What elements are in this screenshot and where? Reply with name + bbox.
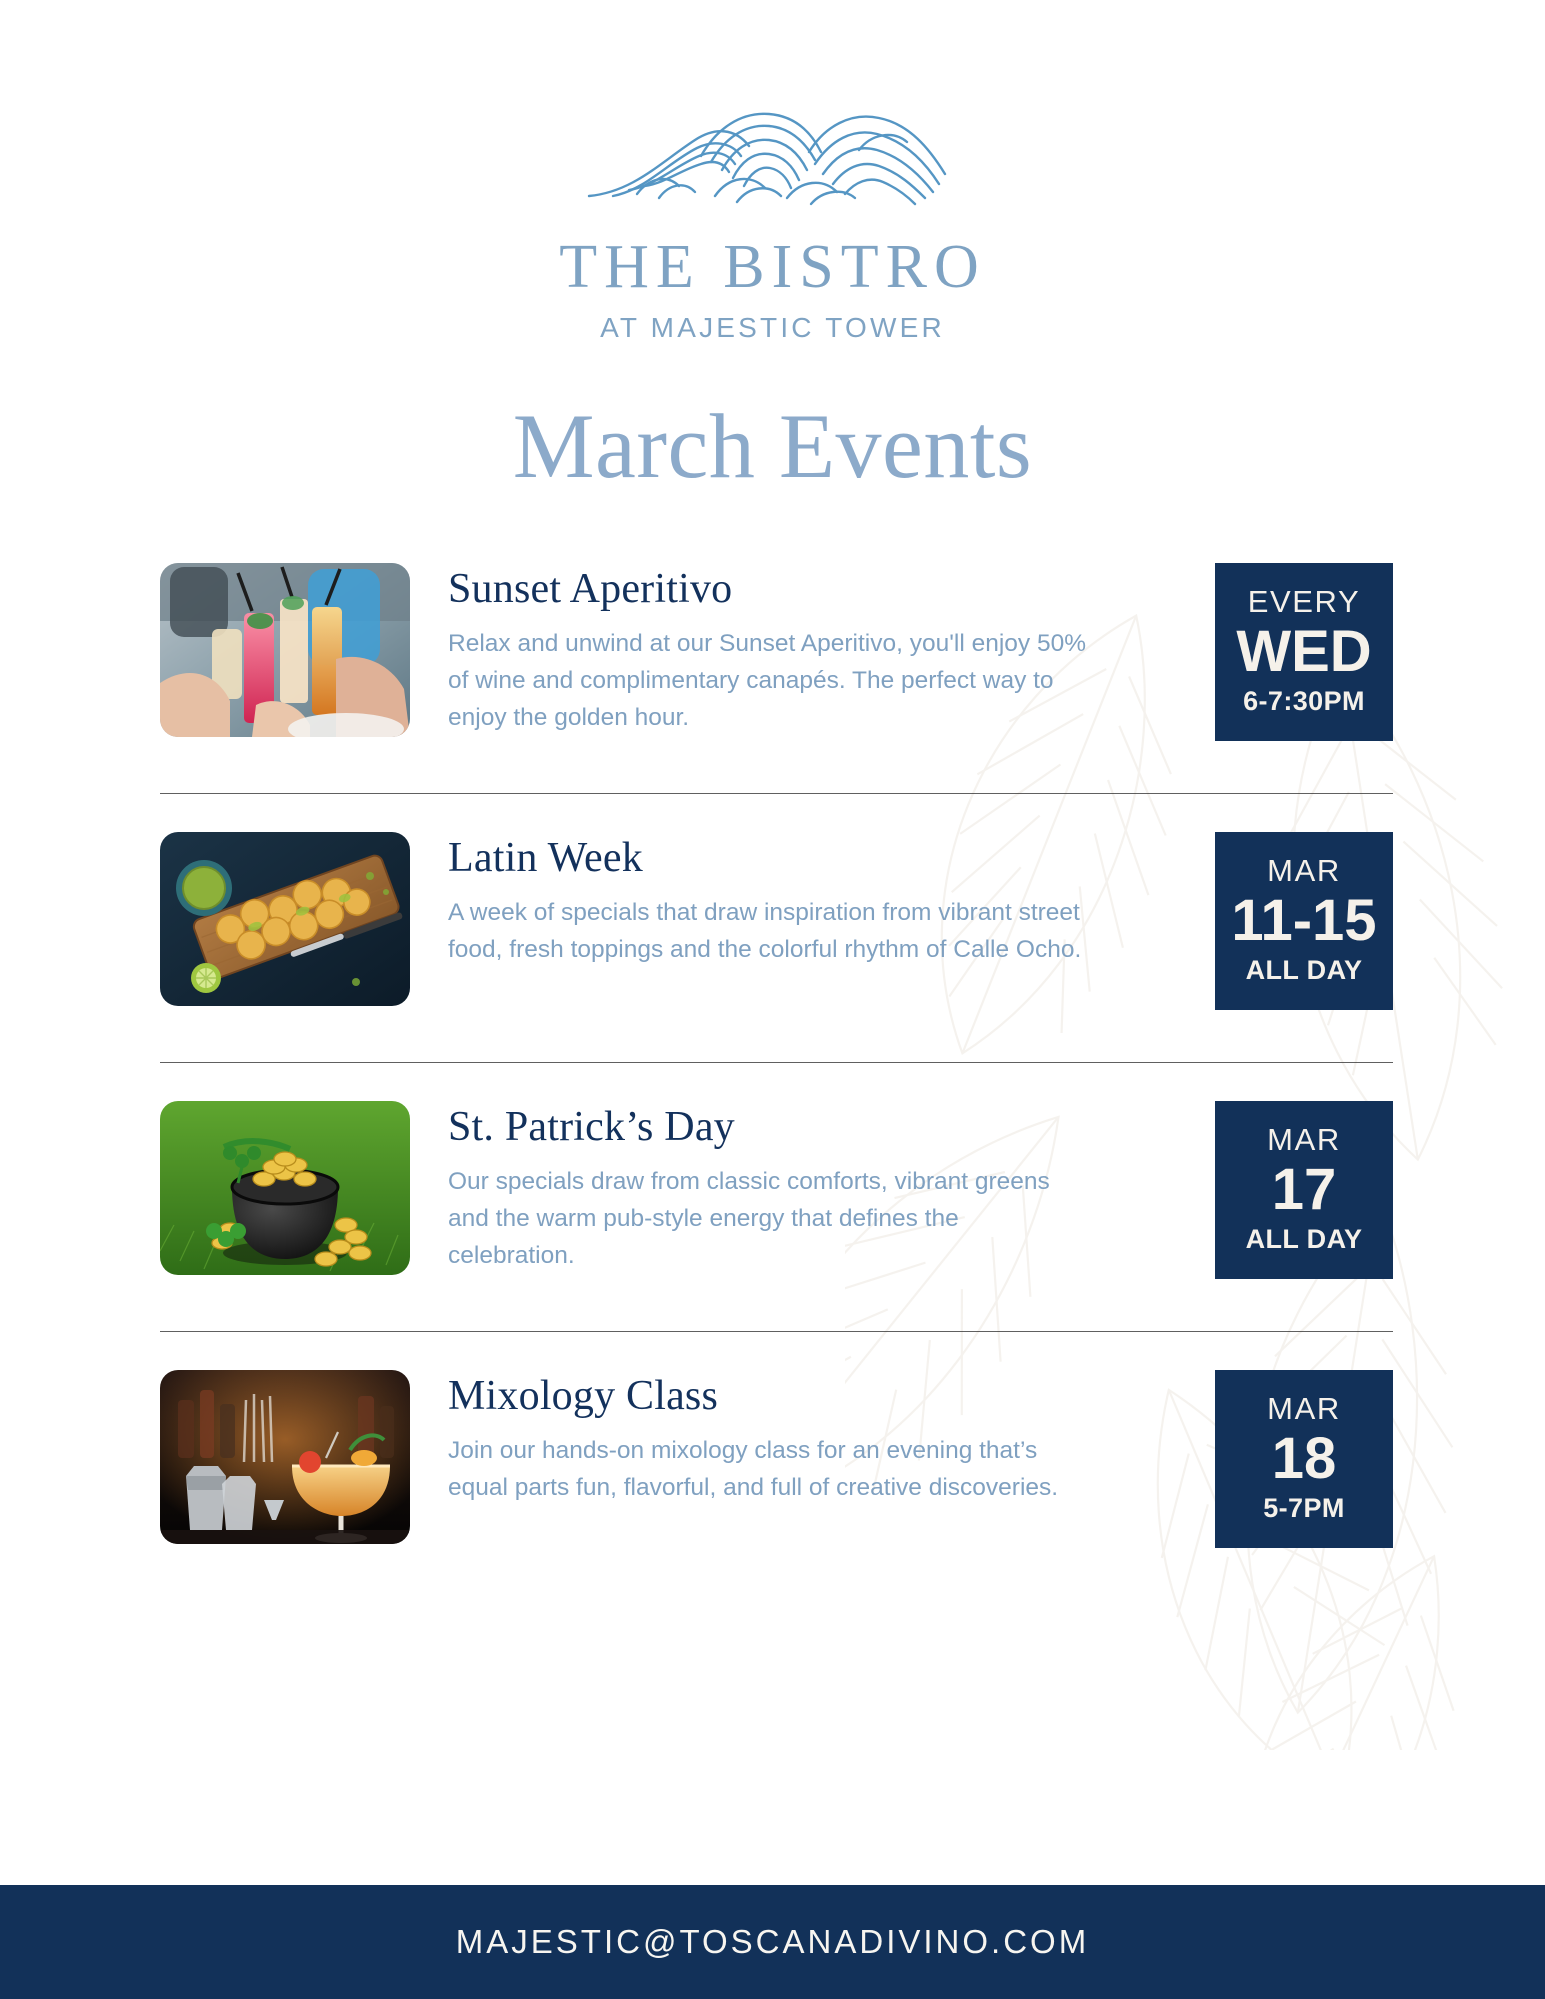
cocktail-bar-photo bbox=[160, 1370, 410, 1544]
badge-main-label: 11-15 bbox=[1231, 889, 1376, 954]
event-body: St. Patrick’s Day Our specials draw from… bbox=[410, 1097, 1215, 1275]
event-row[interactable]: Latin Week A week of specials that draw … bbox=[160, 828, 1393, 1028]
badge-bottom-label: 6-7:30PM bbox=[1243, 687, 1365, 715]
badge-bottom-label: ALL DAY bbox=[1246, 956, 1363, 984]
badge-top-label: EVERY bbox=[1248, 586, 1361, 619]
event-thumbnail bbox=[160, 563, 410, 737]
badge-top-label: MAR bbox=[1267, 1124, 1341, 1157]
event-thumbnail bbox=[160, 1370, 410, 1544]
badge-top-label: MAR bbox=[1267, 855, 1341, 888]
badge-bottom-label: ALL DAY bbox=[1246, 1225, 1363, 1253]
event-title: Sunset Aperitivo bbox=[448, 567, 1191, 611]
event-body: Sunset Aperitivo Relax and unwind at our… bbox=[410, 559, 1215, 737]
event-description: A week of specials that draw inspiration… bbox=[448, 894, 1088, 968]
event-body: Latin Week A week of specials that draw … bbox=[410, 828, 1215, 969]
divider bbox=[160, 1331, 1393, 1332]
tostones-board-photo bbox=[160, 832, 410, 1006]
divider bbox=[160, 1062, 1393, 1063]
event-date-badge: MAR 17 ALL DAY bbox=[1215, 1101, 1393, 1279]
event-row[interactable]: Mixology Class Join our hands-on mixolog… bbox=[160, 1366, 1393, 1566]
brand-name: THE BISTRO bbox=[0, 236, 1545, 298]
header: THE BISTRO AT MAJESTIC TOWER March Event… bbox=[0, 0, 1545, 495]
event-description: Our specials draw from classic comforts,… bbox=[448, 1163, 1088, 1275]
flyer-page: THE BISTRO AT MAJESTIC TOWER March Event… bbox=[0, 0, 1545, 1999]
event-description: Relax and unwind at our Sunset Aperitivo… bbox=[448, 625, 1088, 737]
event-title: Latin Week bbox=[448, 836, 1191, 880]
brand-subtitle: AT MAJESTIC TOWER bbox=[0, 314, 1545, 342]
event-row[interactable]: St. Patrick’s Day Our specials draw from… bbox=[160, 1097, 1393, 1297]
wave-hills-icon bbox=[583, 104, 963, 214]
divider bbox=[160, 793, 1393, 794]
event-row[interactable]: Sunset Aperitivo Relax and unwind at our… bbox=[160, 559, 1393, 759]
badge-main-label: 18 bbox=[1272, 1427, 1337, 1492]
cocktail-cheers-photo bbox=[160, 563, 410, 737]
pot-of-gold-photo bbox=[160, 1101, 410, 1275]
event-date-badge: MAR 11-15 ALL DAY bbox=[1215, 832, 1393, 1010]
contact-email[interactable]: MAJESTIC@TOSCANADIVINO.COM bbox=[456, 1923, 1089, 1961]
event-title: Mixology Class bbox=[448, 1374, 1191, 1418]
footer-bar: MAJESTIC@TOSCANADIVINO.COM bbox=[0, 1885, 1545, 1999]
events-list: Sunset Aperitivo Relax and unwind at our… bbox=[0, 559, 1545, 1566]
event-description: Join our hands-on mixology class for an … bbox=[448, 1432, 1088, 1506]
badge-top-label: MAR bbox=[1267, 1393, 1341, 1426]
badge-main-label: 17 bbox=[1272, 1158, 1337, 1223]
event-thumbnail bbox=[160, 832, 410, 1006]
event-body: Mixology Class Join our hands-on mixolog… bbox=[410, 1366, 1215, 1507]
badge-bottom-label: 5-7PM bbox=[1263, 1494, 1345, 1522]
badge-main-label: WED bbox=[1236, 620, 1371, 685]
page-title: March Events bbox=[0, 398, 1545, 495]
event-date-badge: MAR 18 5-7PM bbox=[1215, 1370, 1393, 1548]
event-thumbnail bbox=[160, 1101, 410, 1275]
event-title: St. Patrick’s Day bbox=[448, 1105, 1191, 1149]
event-date-badge: EVERY WED 6-7:30PM bbox=[1215, 563, 1393, 741]
